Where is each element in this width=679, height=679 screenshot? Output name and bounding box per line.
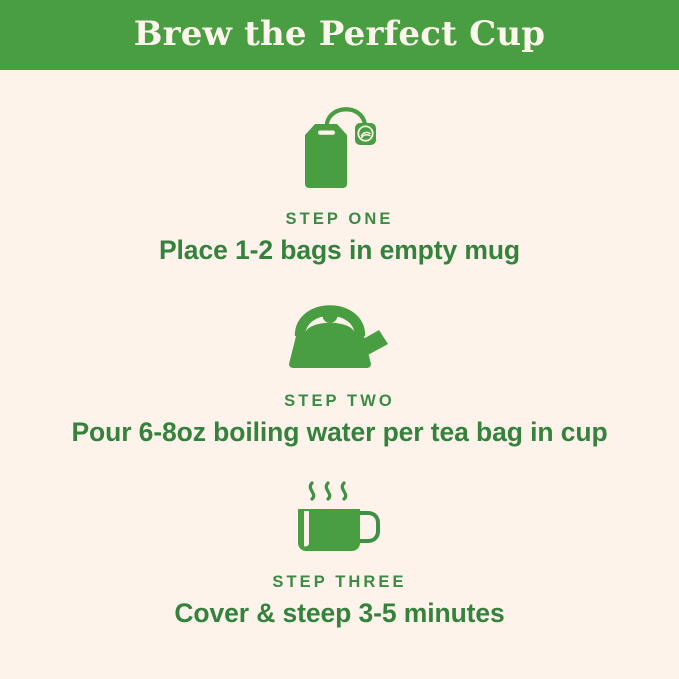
steaming-mug-icon	[288, 475, 392, 553]
page-title: Brew the Perfect Cup	[134, 17, 546, 53]
step-one-eyebrow: STEP ONE	[286, 210, 394, 229]
brew-instructions-poster: Brew the Perfect Cup	[0, 0, 679, 679]
step-item-three: STEP THREE Cover & steep 3-5 minutes	[0, 475, 679, 629]
tea-bag-icon	[285, 102, 395, 188]
steps-list: STEP ONE Place 1-2 bags in empty mug	[0, 70, 679, 679]
step-one-text: Place 1-2 bags in empty mug	[159, 235, 520, 266]
step-two-text: Pour 6-8oz boiling water per tea bag in …	[71, 417, 607, 448]
step-three-text: Cover & steep 3-5 minutes	[174, 598, 504, 629]
header-band: Brew the Perfect Cup	[0, 0, 679, 70]
step-three-eyebrow: STEP THREE	[272, 573, 406, 592]
step-item-two: STEP TWO Pour 6-8oz boiling water per te…	[0, 292, 679, 448]
step-two-eyebrow: STEP TWO	[284, 392, 395, 411]
step-item-one: STEP ONE Place 1-2 bags in empty mug	[0, 102, 679, 266]
kettle-icon	[274, 292, 406, 370]
